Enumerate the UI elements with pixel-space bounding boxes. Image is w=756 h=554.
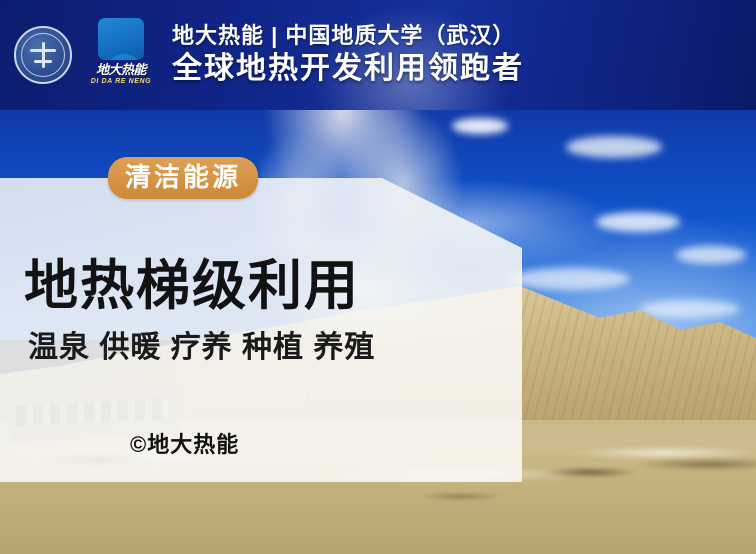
- seal-glyph: [30, 42, 56, 68]
- rainbow-logo-icon: [98, 18, 144, 60]
- promo-banner: 地大热能 DI DA RE NENG 地大热能 | 中国地质大学（武汉） 全球地…: [0, 0, 756, 554]
- header-text-block: 地大热能 | 中国地质大学（武汉） 全球地热开发利用领跑者: [172, 22, 524, 88]
- university-seal-icon: [14, 26, 72, 84]
- header-bar: 地大热能 DI DA RE NENG 地大热能 | 中国地质大学（武汉） 全球地…: [0, 0, 756, 110]
- subtitle-keywords: 温泉 供暖 疗养 种植 养殖: [28, 330, 375, 366]
- brand-name-en: DI DA RE NENG: [84, 77, 158, 86]
- content-panel-text: 清洁能源 地热梯级利用 温泉 供暖 疗养 种植 养殖 ©地大热能: [0, 160, 522, 482]
- page-title: 地热梯级利用: [24, 255, 360, 317]
- brand-logo[interactable]: 地大热能 DI DA RE NENG: [84, 18, 158, 92]
- brand-name-cn: 地大热能: [84, 62, 158, 77]
- cloud-icon: [676, 246, 746, 264]
- cloud-icon: [566, 136, 662, 158]
- copyright-notice: ©地大热能: [130, 432, 239, 458]
- cloud-icon: [640, 300, 740, 318]
- category-badge: 清洁能源: [108, 157, 258, 199]
- cloud-icon: [596, 212, 680, 232]
- header-line-2: 全球地热开发利用领跑者: [172, 50, 524, 88]
- header-line-1: 地大热能 | 中国地质大学（武汉）: [172, 22, 524, 50]
